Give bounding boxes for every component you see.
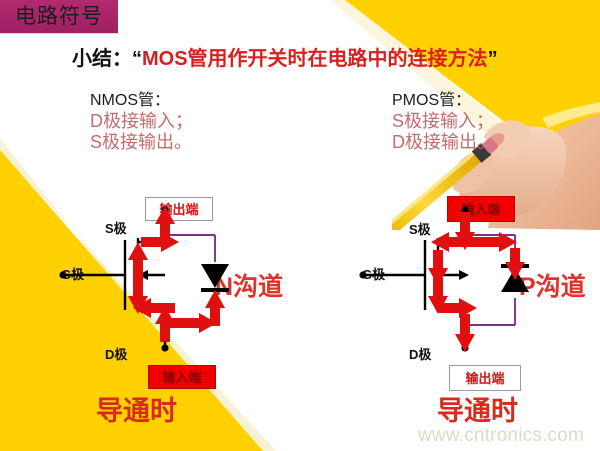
section-badge-label: 电路符号 xyxy=(15,6,103,27)
nmos-description-head: NMOS管： xyxy=(90,92,193,111)
slide-canvas: 电路符号 小结：“ MOS管用作开关时在电路中的连接方法 ” NMOS管： D极… xyxy=(0,0,600,451)
nmos-caption: 导通时 xyxy=(96,398,177,425)
nmos-description: NMOS管： D极接输入； S极接输出。 xyxy=(90,92,193,153)
pmos-caption: 导通时 xyxy=(437,398,518,425)
section-badge: 电路符号 xyxy=(0,0,118,33)
nmos-circuit-diagram xyxy=(55,190,315,440)
pmos-description-head: PMOS管： xyxy=(392,92,495,111)
pmos-description-line1: S极接输入； xyxy=(392,111,495,132)
page-title-prefix: 小结：“ xyxy=(72,49,142,69)
nmos-description-line1: D极接输入； xyxy=(90,111,193,132)
pmos-description-line2: D极接输出。 xyxy=(392,132,495,153)
pmos-description: PMOS管： S极接输入； D极接输出。 xyxy=(392,92,495,153)
site-watermark: www.cntronics.com xyxy=(418,426,584,445)
page-title-suffix: ” xyxy=(488,49,498,69)
page-title: 小结：“ MOS管用作开关时在电路中的连接方法 ” xyxy=(72,44,542,74)
page-title-emphasis: MOS管用作开关时在电路中的连接方法 xyxy=(142,49,488,69)
nmos-description-line2: S极接输出。 xyxy=(90,132,193,153)
